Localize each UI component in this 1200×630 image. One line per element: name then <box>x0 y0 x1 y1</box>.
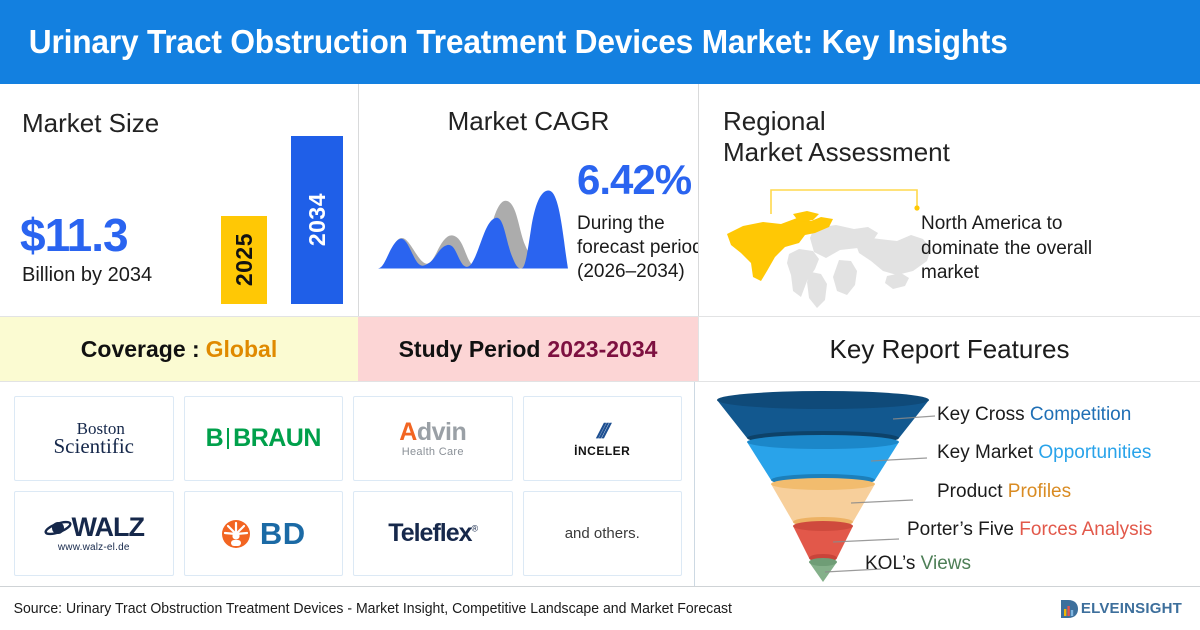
braun-name: BRAUN <box>233 424 321 453</box>
delveinsight-mark-icon <box>1059 598 1081 620</box>
page-title: Urinary Tract Obstruction Treatment Devi… <box>0 23 1008 61</box>
logo-b-braun: B BRAUN <box>184 396 344 481</box>
funnel-label-2-prefix: Key Market <box>937 442 1038 463</box>
footer: Source: Urinary Tract Obstruction Treatm… <box>0 586 1200 630</box>
logo-and-others: and others. <box>523 491 683 576</box>
infographic-page: Urinary Tract Obstruction Treatment Devi… <box>0 0 1200 630</box>
funnel-label-4-prefix: Porter’s Five <box>907 519 1019 540</box>
coverage-label: Coverage : <box>81 336 200 363</box>
teleflex-registered-icon: ® <box>472 524 478 534</box>
regional-title-line1: Regional <box>723 106 826 136</box>
funnel-label-3-highlight: Profiles <box>1008 481 1071 502</box>
bar-2025-label: 2025 <box>231 233 258 286</box>
cagr-area-chart <box>373 146 568 276</box>
regional-title: Regional Market Assessment <box>723 106 950 167</box>
company-logo-grid: Boston Scientific B BRAUN Advin Health C… <box>0 382 694 586</box>
bottom-section: Boston Scientific B BRAUN Advin Health C… <box>0 382 1200 586</box>
logo-boston-scientific: Boston Scientific <box>14 396 174 481</box>
teleflex-name: Teleflex <box>388 519 471 547</box>
delveinsight-wordmark: ELVEINSIGHT <box>1081 600 1182 617</box>
study-period-cell: Study Period 2023-2034 <box>358 317 698 381</box>
cagr-note: During the forecast period (2026–2034) <box>577 212 707 283</box>
logo-bd: BD <box>184 491 344 576</box>
planet-icon <box>44 518 72 538</box>
study-period-value: 2023-2034 <box>547 336 657 363</box>
funnel-label-1: Key Cross Competition <box>937 404 1131 426</box>
inceler-slashes-icon: /// <box>571 421 634 442</box>
and-others-label: and others. <box>565 525 640 542</box>
bd-sunburst-icon <box>221 519 251 549</box>
market-size-subtitle: Billion by 2034 <box>22 264 152 287</box>
key-report-features-title: Key Report Features <box>698 317 1200 381</box>
map-southern-continents <box>807 272 827 308</box>
funnel-label-2-highlight: Opportunities <box>1038 442 1151 463</box>
market-cagr-title: Market CAGR <box>359 106 698 137</box>
bar-2034: 2034 <box>291 136 343 304</box>
braun-mark: B <box>206 424 224 453</box>
funnel-label-list: Key Cross Competition Key Market Opportu… <box>695 382 1200 586</box>
map-callout-line <box>767 184 937 216</box>
advin-name: dvin <box>417 418 466 446</box>
funnel-label-5: KOL’s Views <box>865 553 971 575</box>
top-panels: Market Size $11.3 Billion by 2034 2025 2… <box>0 84 1200 316</box>
callout-path <box>771 190 917 214</box>
bar-2025: 2025 <box>221 216 267 304</box>
boston-line2: Scientific <box>54 437 134 456</box>
funnel-label-1-prefix: Key Cross <box>937 404 1030 425</box>
coverage-cell: Coverage : Global <box>0 317 358 381</box>
delveinsight-logo: ELVEINSIGHT <box>1059 598 1182 620</box>
logo-walz: WALZ www.walz-el.de <box>14 491 174 576</box>
key-report-features-funnel: Key Cross Competition Key Market Opportu… <box>694 382 1200 586</box>
regional-note: North America to dominate the overall ma… <box>921 212 1121 286</box>
callout-dot <box>914 205 919 210</box>
walz-url: www.walz-el.de <box>44 543 144 553</box>
braun-divider-icon <box>227 428 229 449</box>
funnel-label-2: Key Market Opportunities <box>937 442 1151 464</box>
regional-panel: Regional Market Assessment <box>698 84 1200 316</box>
funnel-label-3-prefix: Product <box>937 481 1008 502</box>
bd-name: BD <box>260 516 306 552</box>
logo-inceler: /// İNCELER <box>523 396 683 481</box>
inceler-name: İNCELER <box>574 445 630 457</box>
coverage-strip: Coverage : Global Study Period 2023-2034… <box>0 316 1200 382</box>
funnel-label-5-highlight: Views <box>921 553 971 574</box>
market-size-value: $11.3 <box>20 208 128 262</box>
market-size-title: Market Size <box>22 108 159 139</box>
cagr-value: 6.42% <box>577 156 691 204</box>
study-period-label: Study Period <box>399 336 541 363</box>
funnel-label-3: Product Profiles <box>937 481 1071 503</box>
bar-2034-label: 2034 <box>304 193 331 246</box>
coverage-value: Global <box>206 336 278 363</box>
advin-accent-icon: A <box>399 418 417 446</box>
funnel-label-5-prefix: KOL’s <box>865 553 921 574</box>
funnel-label-4: Porter’s Five Forces Analysis <box>907 519 1152 541</box>
logo-teleflex: Teleflex® <box>353 491 513 576</box>
market-size-bar-chart: 2025 2034 <box>215 124 345 304</box>
logo-advin: Advin Health Care <box>353 396 513 481</box>
source-text: Source: Urinary Tract Obstruction Treatm… <box>0 601 732 617</box>
funnel-label-4-highlight: Forces Analysis <box>1019 519 1152 540</box>
advin-tagline: Health Care <box>399 447 466 458</box>
market-size-panel: Market Size $11.3 Billion by 2034 2025 2… <box>0 84 358 316</box>
cagr-blue-series <box>378 191 568 269</box>
header-banner: Urinary Tract Obstruction Treatment Devi… <box>0 0 1200 84</box>
market-cagr-panel: Market CAGR 6.42% During the forecast pe… <box>358 84 698 316</box>
walz-name: WALZ <box>72 514 144 541</box>
regional-title-line2: Market Assessment <box>723 137 950 167</box>
funnel-label-1-highlight: Competition <box>1030 404 1131 425</box>
